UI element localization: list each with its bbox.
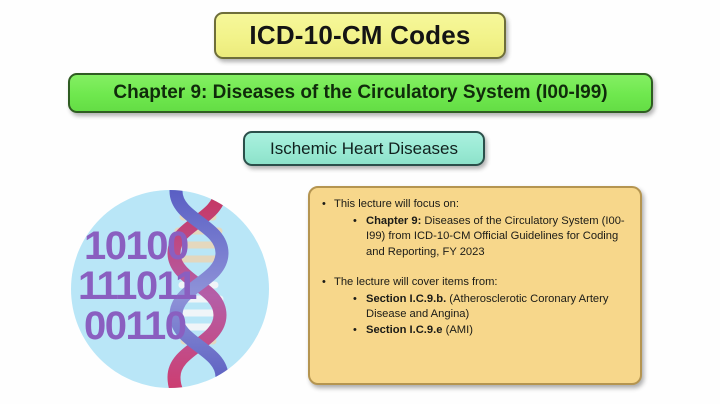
item-bold-lead: Chapter 9:: [366, 215, 421, 227]
binary-row-0: 10100: [84, 224, 188, 268]
list-item: • Chapter 9: Diseases of the Circulatory…: [350, 214, 628, 260]
bullet-icon: •: [322, 275, 326, 290]
group-lead-text: This lecture will focus on:: [334, 198, 459, 210]
group-lead-text: The lecture will cover items from:: [334, 276, 498, 288]
item-rest-text: (AMI): [442, 324, 472, 336]
item-bold-lead: Section I.C.9.e: [366, 324, 442, 336]
content-list: • This lecture will focus on: • Chapter …: [320, 197, 628, 339]
bullet-icon: •: [322, 197, 326, 212]
content-sublist: • Chapter 9: Diseases of the Circulatory…: [334, 214, 628, 260]
group-spacer: [320, 262, 628, 273]
binary-row-1: 111011: [78, 264, 197, 308]
slide-canvas: ICD-10-CM Codes Chapter 9: Diseases of t…: [0, 0, 720, 404]
content-sublist: • Section I.C.9.b. (Atherosclerotic Coro…: [334, 292, 628, 339]
dna-binary-logo: 10100 111011 00110: [70, 189, 270, 389]
bullet-icon: •: [353, 292, 357, 307]
topic-banner: Ischemic Heart Diseases: [243, 131, 485, 166]
content-card: • This lecture will focus on: • Chapter …: [308, 186, 642, 385]
title-banner-text: ICD-10-CM Codes: [249, 20, 470, 51]
list-item: • Section I.C.9.b. (Atherosclerotic Coro…: [350, 292, 628, 322]
title-banner: ICD-10-CM Codes: [214, 12, 506, 59]
binary-row-2: 00110: [84, 304, 186, 348]
item-bold-lead: Section I.C.9.b.: [366, 293, 446, 305]
list-item-group-lead: • This lecture will focus on: • Chapter …: [320, 197, 628, 260]
bullet-icon: •: [353, 214, 357, 229]
chapter-banner: Chapter 9: Diseases of the Circulatory S…: [68, 73, 653, 113]
topic-banner-text: Ischemic Heart Diseases: [270, 139, 458, 159]
chapter-banner-text: Chapter 9: Diseases of the Circulatory S…: [113, 82, 607, 104]
list-item-group-lead: • The lecture will cover items from: • S…: [320, 275, 628, 339]
bullet-icon: •: [353, 323, 357, 338]
binary-digits: 10100 111011 00110: [78, 224, 197, 348]
list-item: • Section I.C.9.e (AMI): [350, 323, 628, 338]
